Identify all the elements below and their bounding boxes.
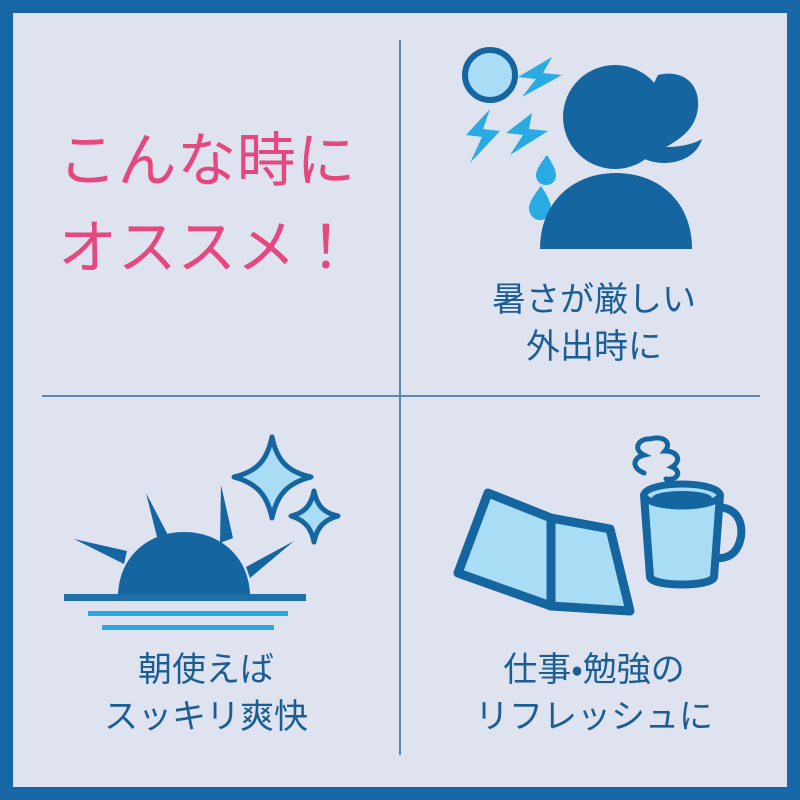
sunrise-sparkle-icon bbox=[13, 427, 399, 642]
quadrant-work-study-refresh: 仕事・勉強の リフレッシュに bbox=[401, 397, 787, 787]
caption-line-2: リフレッシュに bbox=[401, 694, 787, 741]
caption-line-1: 朝使えば bbox=[13, 647, 399, 694]
caption-line-1: 仕事・勉強の bbox=[401, 647, 787, 694]
caption-work-study-refresh: 仕事・勉強の リフレッシュに bbox=[401, 647, 787, 741]
woman-sweating-sun-icon bbox=[401, 35, 787, 275]
caption-heat-outing: 暑さが厳しい 外出時に bbox=[401, 277, 787, 371]
caption-morning-refresh: 朝使えば スッキリ爽快 bbox=[13, 647, 399, 741]
poster-frame: こんな時に オススメ！ bbox=[0, 0, 800, 800]
headline-line-2: オススメ！ bbox=[58, 204, 356, 291]
quadrant-headline: こんな時に オススメ！ bbox=[13, 13, 399, 395]
poster-canvas: こんな時に オススメ！ bbox=[13, 13, 787, 787]
headline-block: こんな時に オススメ！ bbox=[13, 13, 399, 395]
quadrant-heat-outing: 暑さが厳しい 外出時に bbox=[401, 13, 787, 395]
caption-line-1: 暑さが厳しい bbox=[401, 277, 787, 324]
caption-line-2: スッキリ爽快 bbox=[13, 694, 399, 741]
book-coffee-icon bbox=[401, 425, 787, 640]
headline-line-1: こんな時に bbox=[58, 117, 356, 204]
caption-line-2: 外出時に bbox=[401, 324, 787, 371]
quadrant-morning-refresh: 朝使えば スッキリ爽快 bbox=[13, 397, 399, 787]
